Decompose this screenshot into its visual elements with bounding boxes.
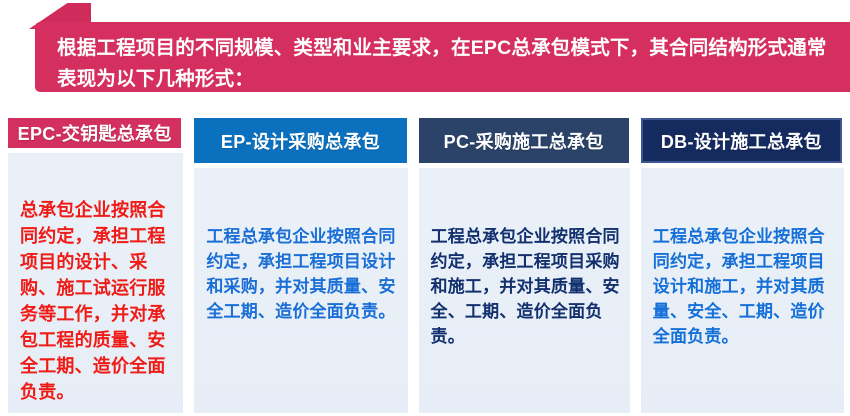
column-body-db: 工程总承包企业按照合同约定，承担工程项目设计和施工，并对其质量、安全、工期、造价…: [641, 168, 844, 413]
column-header-db[interactable]: DB-设计施工总承包: [641, 118, 842, 163]
column-body-pc: 工程总承包企业按照合同约定，承担工程项目采购和施工，并对其质量、安全、工期、造价…: [419, 168, 630, 413]
column-header-pc[interactable]: PC-采购施工总承包: [419, 118, 629, 163]
column-pc: PC-采购施工总承包 工程总承包企业按照合同约定，承担工程项目采购和施工，并对其…: [415, 115, 634, 416]
column-body-ep: 工程总承包企业按照合同约定，承担工程项目设计和采购，并对其质量、安全工期、造价全…: [194, 168, 407, 413]
header-banner: 根据工程项目的不同规模、类型和业主要求，在EPC总承包模式下，其合同结构形式通常…: [0, 0, 850, 104]
column-text-db: 工程总承包企业按照合同约定，承担工程项目设计和施工，并对其质量、安全、工期、造价…: [653, 182, 834, 349]
column-text-epc: 总承包企业按照合同约定，承担工程项目的设计、采购、施工试运行服务等工作，并对承包…: [20, 167, 173, 405]
banner-text: 根据工程项目的不同规模、类型和业主要求，在EPC总承包模式下，其合同结构形式通常…: [57, 33, 832, 95]
banner-body: 根据工程项目的不同规模、类型和业主要求，在EPC总承包模式下，其合同结构形式通常…: [35, 22, 850, 92]
column-epc: EPC-交钥匙总承包 总承包企业按照合同约定，承担工程项目的设计、采购、施工试运…: [0, 115, 187, 416]
column-ep: EP-设计采购总承包 工程总承包企业按照合同约定，承担工程项目设计和采购，并对其…: [190, 115, 411, 416]
column-body-epc: 总承包企业按照合同约定，承担工程项目的设计、采购、施工试运行服务等工作，并对承包…: [8, 153, 183, 413]
column-text-ep: 工程总承包企业按照合同约定，承担工程项目设计和采购，并对其质量、安全工期、造价全…: [206, 182, 397, 324]
column-text-pc: 工程总承包企业按照合同约定，承担工程项目采购和施工，并对其质量、安全、工期、造价…: [431, 182, 620, 349]
column-db: DB-设计施工总承包 工程总承包企业按照合同约定，承担工程项目设计和施工，并对其…: [637, 115, 850, 416]
contract-type-columns: EPC-交钥匙总承包 总承包企业按照合同约定，承担工程项目的设计、采购、施工试运…: [0, 115, 850, 416]
column-header-epc[interactable]: EPC-交钥匙总承包: [8, 118, 181, 148]
slide-canvas: 根据工程项目的不同规模、类型和业主要求，在EPC总承包模式下，其合同结构形式通常…: [0, 0, 850, 416]
column-header-ep[interactable]: EP-设计采购总承包: [194, 118, 406, 163]
